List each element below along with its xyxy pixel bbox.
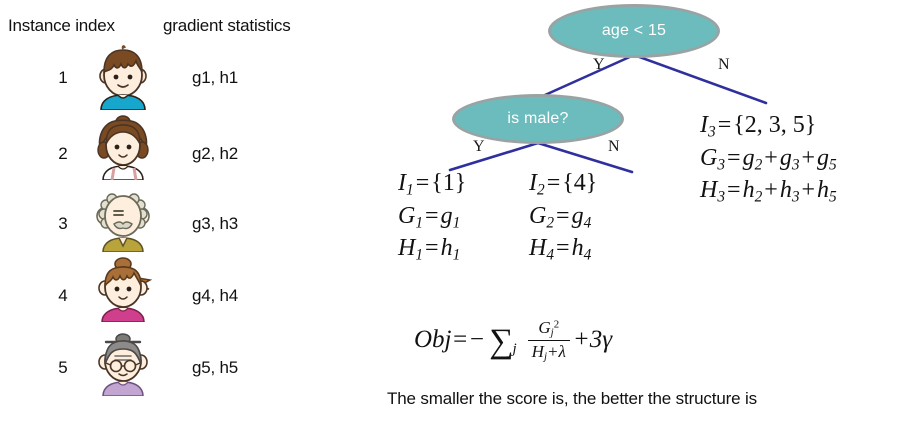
- old-woman-glasses-avatar: [92, 330, 154, 396]
- row-index-1: 1: [48, 68, 78, 88]
- objective-formula: Obj = − ∑ j Gj2 Hj+λ + 3γ: [414, 318, 612, 363]
- leaf-3-line-1: I3={2, 3, 5}: [700, 110, 837, 143]
- objective-minus: −: [468, 326, 485, 354]
- edge-label-root-yes: Y: [593, 56, 605, 74]
- row-index-2: 2: [48, 144, 78, 164]
- slide-canvas: Instance index gradient statistics 1 g1,…: [0, 0, 920, 421]
- row-stats-5: g5, h5: [192, 358, 238, 378]
- summation-icon: ∑: [489, 328, 513, 355]
- edge-label-root-no: N: [718, 56, 730, 74]
- leaf-block-3: I3={2, 3, 5} G3=g2+g3+g5 H3=h2+h3+h5: [700, 110, 837, 208]
- row-index-3: 3: [48, 214, 78, 234]
- tree-node-is-male[interactable]: is male?: [452, 94, 624, 144]
- leaf-3-line-3: H3=h2+h3+h5: [700, 175, 837, 208]
- leaf-3-line-2: G3=g2+g3+g5: [700, 143, 837, 176]
- objective-denominator: Hj+λ: [528, 340, 570, 363]
- tree-node-age-label: age < 15: [602, 22, 666, 40]
- edge-root-no: [634, 55, 766, 103]
- leaf-2-line-1: I2={4}: [529, 168, 597, 201]
- row-index-5: 5: [48, 358, 78, 378]
- objective-numerator: Gj2: [534, 318, 563, 340]
- objective-gamma-term: 3γ: [590, 326, 612, 354]
- tree-node-age[interactable]: age < 15: [548, 4, 720, 58]
- leaf-1-line-3: H1=h1: [398, 233, 466, 266]
- boy-teal-shirt-avatar: [92, 44, 154, 110]
- row-stats-2: g2, h2: [192, 144, 238, 164]
- old-man-mustache-avatar: [92, 186, 154, 252]
- row-index-4: 4: [48, 286, 78, 306]
- leaf-2-line-2: G2=g4: [529, 201, 597, 234]
- leaf-1-line-1: I1={1}: [398, 168, 466, 201]
- leaf-block-1: I1={1} G1=g1 H1=h1: [398, 168, 466, 266]
- edge-label-male-yes: Y: [473, 138, 485, 156]
- leaf-2-line-3: H4=h4: [529, 233, 597, 266]
- row-stats-3: g3, h3: [192, 214, 238, 234]
- leaf-1-line-2: G1=g1: [398, 201, 466, 234]
- column-header-gradient-statistics: gradient statistics: [163, 16, 291, 36]
- caption-text: The smaller the score is, the better the…: [387, 389, 757, 409]
- summation-index: j: [513, 341, 517, 358]
- edge-root-yes: [545, 55, 634, 95]
- edge-label-male-no: N: [608, 138, 620, 156]
- girl-brown-hair-avatar: [92, 114, 154, 180]
- girl-ponytail-pink-avatar: [92, 256, 154, 322]
- edge-male-yes: [450, 143, 538, 170]
- objective-lhs: Obj: [414, 326, 452, 354]
- objective-equals: =: [452, 326, 469, 354]
- column-header-instance-index: Instance index: [8, 16, 115, 36]
- objective-fraction: Gj2 Hj+λ: [528, 318, 570, 363]
- row-stats-1: g1, h1: [192, 68, 238, 88]
- objective-plus: +: [573, 326, 590, 354]
- tree-node-is-male-label: is male?: [507, 110, 568, 128]
- row-stats-4: g4, h4: [192, 286, 238, 306]
- leaf-block-2: I2={4} G2=g4 H4=h4: [529, 168, 597, 266]
